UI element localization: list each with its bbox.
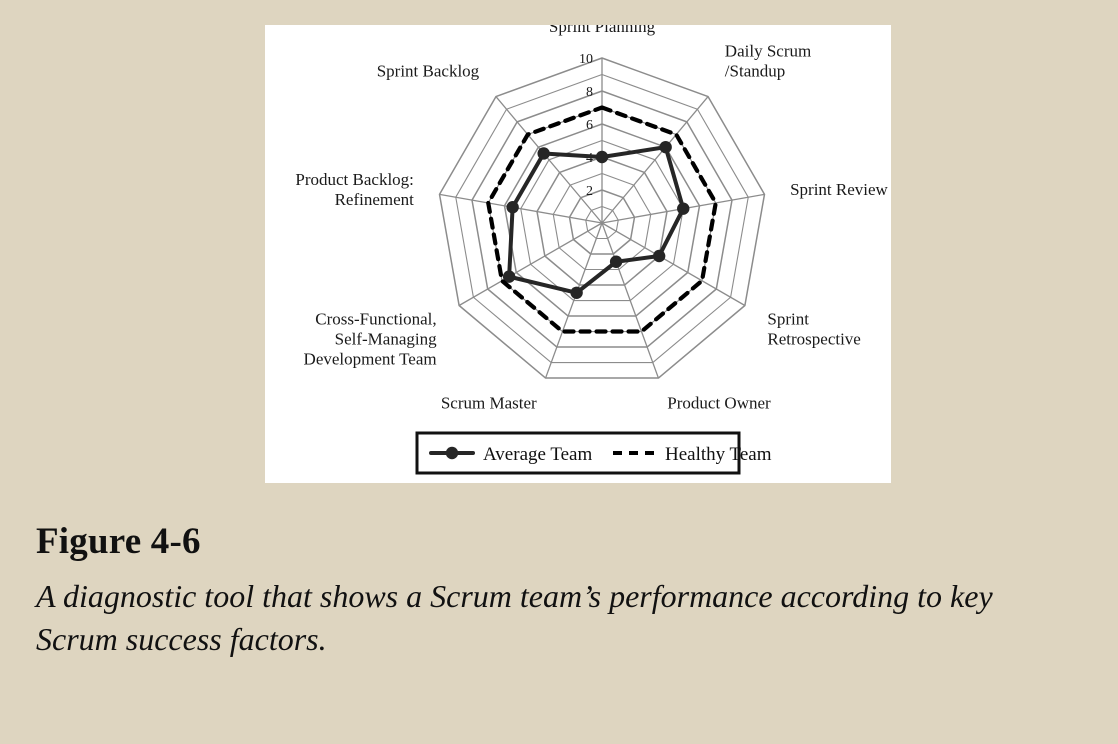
radial-tick-10: 10 (579, 52, 593, 67)
legend-swatch-average-team-marker (446, 447, 458, 459)
figure-number-title: Figure 4-6 (36, 520, 1086, 563)
series-point (570, 287, 582, 299)
axis-label-sprint-review: Sprint Review (790, 180, 888, 199)
radar-chart: 246810 Sprint PlanningDaily Scrum/Standu… (265, 25, 891, 483)
axis-label-line: Sprint Backlog (377, 62, 480, 81)
radial-tick-2: 2 (586, 184, 593, 199)
series-point (659, 141, 671, 153)
radial-tick-4: 4 (586, 151, 593, 166)
caption-block: Figure 4-6 A diagnostic tool that shows … (36, 520, 1086, 661)
legend-label-average-team: Average Team (483, 444, 592, 465)
axis-label-line: Development Team (304, 350, 437, 369)
figure-panel: 246810 Sprint PlanningDaily Scrum/Standu… (265, 25, 891, 483)
axis-label-line: Product Backlog: (295, 170, 414, 189)
axis-label-line: Sprint (767, 310, 809, 329)
radial-tick-6: 6 (586, 118, 593, 133)
axis-label-line: Cross-Functional, (315, 310, 436, 329)
axis-label-line: Sprint Review (790, 180, 888, 199)
axis-label-sprint-planning: Sprint Planning (549, 25, 656, 36)
axis-label-line: Scrum Master (441, 394, 537, 413)
axis-label-line: /Standup (725, 62, 785, 81)
axis-label-line: Self-Managing (335, 330, 437, 349)
series-point (610, 256, 622, 268)
figure-caption-text: A diagnostic tool that shows a Scrum tea… (36, 575, 1056, 661)
series-point (596, 151, 608, 163)
axis-label-scrum-master: Scrum Master (441, 394, 537, 413)
series-point (506, 201, 518, 213)
axis-label-line: Retrospective (767, 330, 860, 349)
axis-label-line: Refinement (335, 190, 415, 209)
series-point (677, 202, 689, 214)
series-point (537, 147, 549, 159)
chart-background (265, 25, 891, 483)
series-point (653, 250, 665, 262)
chart-legend: Average TeamHealthy Team (417, 433, 772, 473)
axis-label-line: Daily Scrum (725, 42, 811, 61)
radial-tick-8: 8 (586, 85, 593, 100)
axis-label-sprint-backlog: Sprint Backlog (377, 62, 480, 81)
axis-label-product-owner: Product Owner (667, 394, 771, 413)
axis-label-line: Product Owner (667, 394, 771, 413)
axis-label-line: Sprint Planning (549, 25, 656, 36)
legend-label-healthy-team: Healthy Team (665, 444, 772, 465)
